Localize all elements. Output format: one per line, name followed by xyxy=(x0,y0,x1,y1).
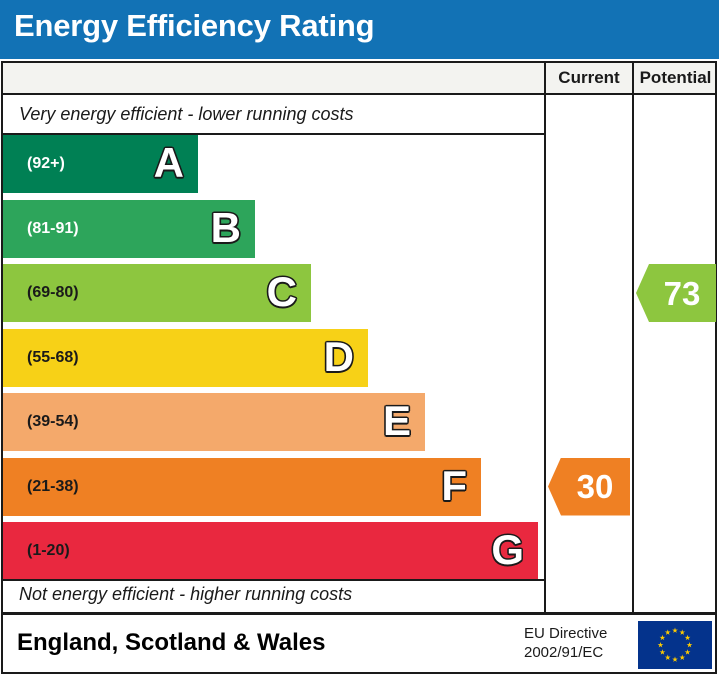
band-letter-g: G xyxy=(491,529,524,571)
band-range-g: (1-20) xyxy=(27,542,70,560)
caption-efficient: Very energy efficient - lower running co… xyxy=(19,104,354,125)
band-letter-b: B xyxy=(211,207,241,249)
band-bar-a: (92+)A xyxy=(3,135,198,193)
rating-badge-potential: 73 xyxy=(636,264,716,322)
caption-inefficient: Not energy efficient - higher running co… xyxy=(19,584,352,605)
footer-region: England, Scotland & Wales xyxy=(17,629,325,657)
band-letter-c: C xyxy=(267,271,297,313)
band-letter-d: D xyxy=(324,336,354,378)
energy-efficiency-certificate: Energy Efficiency Rating Current Potenti… xyxy=(0,0,719,675)
eu-directive-text: EU Directive 2002/91/EC xyxy=(524,625,607,663)
column-divider-potential xyxy=(632,95,634,614)
title-bar: Energy Efficiency Rating xyxy=(0,0,719,59)
band-bar-e: (39-54)E xyxy=(3,393,425,451)
band-bar-d: (55-68)D xyxy=(3,329,368,387)
page-title: Energy Efficiency Rating xyxy=(14,8,374,44)
band-range-c: (69-80) xyxy=(27,284,79,302)
rating-badge-current: 30 xyxy=(548,458,630,516)
band-range-e: (39-54) xyxy=(27,413,79,431)
footer: England, Scotland & Wales EU Directive 2… xyxy=(1,613,717,674)
band-letter-a: A xyxy=(154,142,184,184)
eu-directive-line1: EU Directive xyxy=(524,625,607,644)
rating-value-potential: 73 xyxy=(652,277,701,310)
band-letter-e: E xyxy=(383,400,411,442)
column-header-current: Current xyxy=(544,63,632,93)
eu-directive-line2: 2002/91/EC xyxy=(524,644,607,663)
rating-value-current: 30 xyxy=(565,470,614,503)
band-bars-container: (92+)A(81-91)B(69-80)C(55-68)D(39-54)E(2… xyxy=(3,135,544,579)
band-bar-b: (81-91)B xyxy=(3,200,255,258)
band-range-a: (92+) xyxy=(27,155,65,173)
band-range-f: (21-38) xyxy=(27,478,79,496)
band-bar-c: (69-80)C xyxy=(3,264,311,322)
column-divider-current xyxy=(544,95,546,614)
band-letter-f: F xyxy=(441,465,467,507)
band-range-b: (81-91) xyxy=(27,220,79,238)
table-header-row: Current Potential xyxy=(3,63,715,95)
caption-bottom-rule xyxy=(3,579,544,581)
eu-flag-icon xyxy=(638,621,712,669)
band-bar-f: (21-38)F xyxy=(3,458,481,516)
band-bar-g: (1-20)G xyxy=(3,522,538,580)
column-header-potential: Potential xyxy=(632,63,717,93)
band-range-d: (55-68) xyxy=(27,349,79,367)
rating-table: Current Potential Very energy efficient … xyxy=(1,61,717,614)
